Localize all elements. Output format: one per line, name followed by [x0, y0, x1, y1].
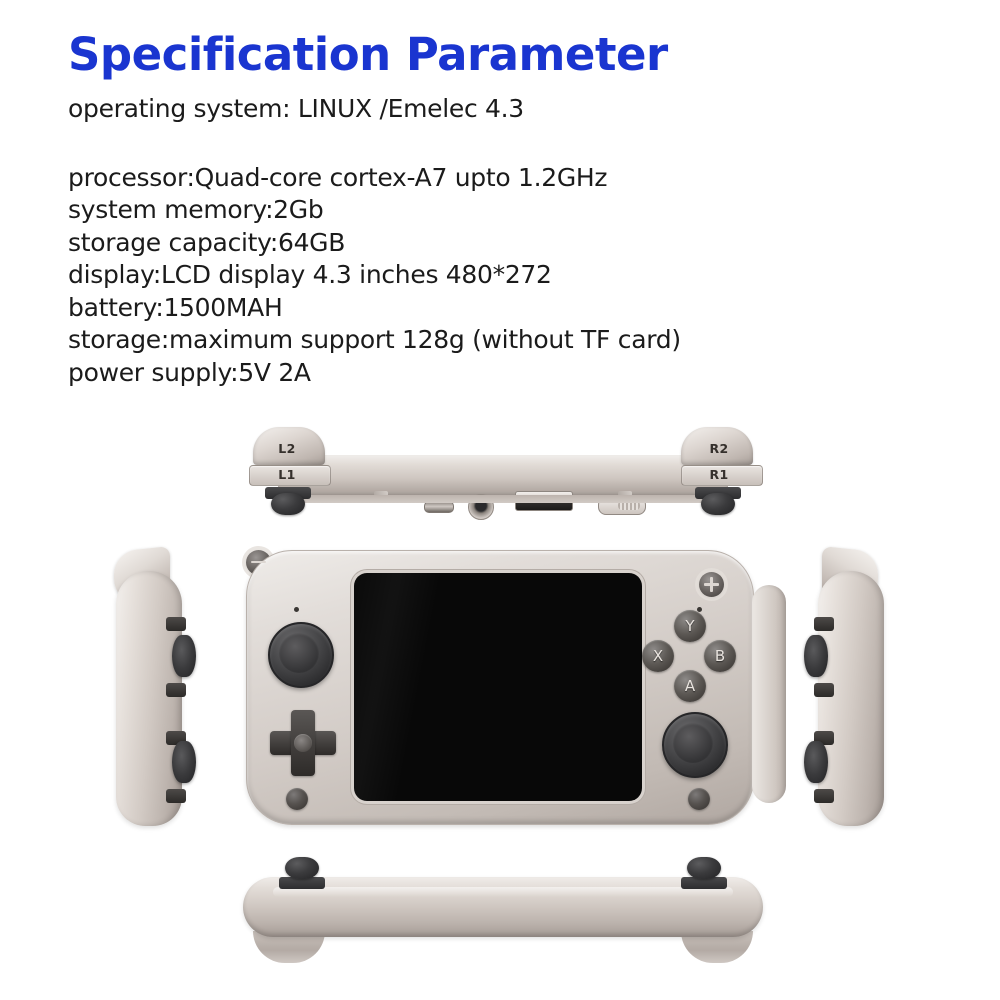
device-bottom-edge-view — [243, 855, 763, 965]
left-side-stick-lower — [172, 741, 196, 783]
left-analog-stick — [268, 622, 334, 688]
right-function-button — [688, 788, 710, 810]
power-switch — [598, 497, 646, 515]
stick-cap — [271, 493, 305, 515]
right-side-stick-upper — [804, 635, 828, 677]
led-indicator-icon — [294, 607, 299, 612]
spec-line-operating-system: operating system: LINUX /Emelec 4.3 — [68, 93, 948, 126]
right-side-nub-mid — [814, 683, 834, 697]
device-left-side-view — [100, 543, 208, 833]
l1-label: L1 — [278, 467, 295, 482]
device-product-figure: L2 L1 R2 R1 — [0, 415, 1000, 1000]
device-front-view: Y X B A — [246, 550, 754, 825]
plus-start-button — [699, 572, 724, 597]
face-button-cluster: Y X B A — [642, 610, 738, 706]
left-trigger-pod: L2 L1 — [245, 427, 329, 477]
left-side-stick-upper — [172, 635, 196, 677]
stick-cap — [285, 857, 319, 879]
left-side-nub-bottom — [166, 789, 186, 803]
top-view-right-analog-stick — [695, 487, 741, 517]
spec-line-storage-support: storage:maximum support 128g (without TF… — [68, 324, 948, 357]
stick-cap — [687, 857, 721, 879]
lcd-screen — [354, 573, 642, 801]
left-side-nub-mid — [166, 683, 186, 697]
right-side-grip-body — [818, 571, 884, 826]
spec-line-display: display:LCD display 4.3 inches 480*272 — [68, 259, 948, 292]
right-side-nub-bottom — [814, 789, 834, 803]
spec-line-system-memory: system memory:2Gb — [68, 194, 948, 227]
left-side-grip-body — [116, 571, 182, 826]
right-side-nub-upper — [814, 617, 834, 631]
bottom-view-left-analog-stick — [279, 855, 325, 889]
right-side-stick-lower — [804, 741, 828, 783]
tf-card-slot — [515, 491, 573, 511]
headphone-jack — [468, 494, 494, 520]
r2-label: R2 — [709, 441, 728, 456]
spec-line-power-supply: power supply:5V 2A — [68, 357, 948, 390]
face-button-x: X — [642, 640, 674, 672]
device-right-side-view — [792, 543, 900, 833]
spec-line-battery: battery:1500MAH — [68, 292, 948, 325]
vent-left-icon — [374, 491, 388, 496]
spec-line-storage-capacity: storage capacity:64GB — [68, 227, 948, 260]
r1-label: R1 — [709, 467, 728, 482]
stick-cap — [701, 493, 735, 515]
screen-glare-highlight — [354, 573, 444, 801]
dpad — [270, 710, 336, 776]
usb-c-port — [424, 501, 454, 513]
bottom-view-right-analog-stick — [681, 855, 727, 889]
adjacent-body-sliver — [752, 585, 786, 803]
top-edge-body — [278, 455, 728, 497]
left-side-nub-upper — [166, 617, 186, 631]
face-button-a: A — [674, 670, 706, 702]
right-analog-stick — [662, 712, 728, 778]
face-button-b: B — [704, 640, 736, 672]
page-title: Specification Parameter — [68, 32, 948, 77]
vent-right-icon — [618, 491, 632, 496]
left-function-button — [286, 788, 308, 810]
specification-text-block: Specification Parameter operating system… — [68, 32, 948, 389]
top-view-left-analog-stick — [265, 487, 311, 517]
device-top-edge-view: L2 L1 R2 R1 — [243, 425, 763, 540]
face-button-y: Y — [674, 610, 706, 642]
spec-line-processor: processor:Quad-core cortex-A7 upto 1.2GH… — [68, 162, 948, 195]
l2-label: L2 — [278, 441, 295, 456]
right-trigger-pod: R2 R1 — [677, 427, 761, 477]
dpad-center — [294, 734, 312, 752]
